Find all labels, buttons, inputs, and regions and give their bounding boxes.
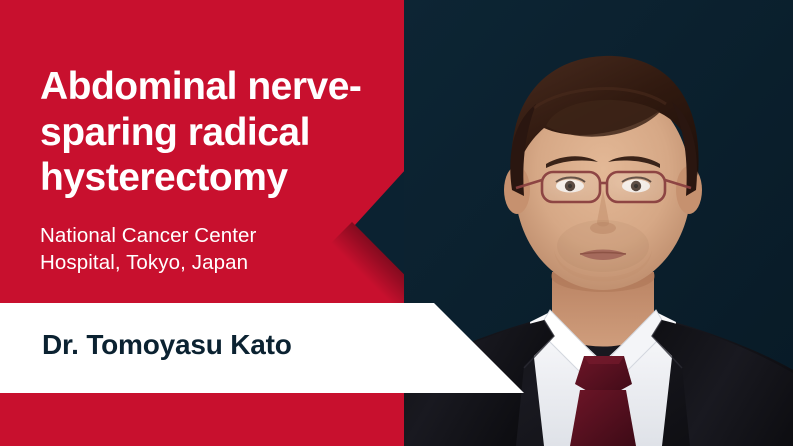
affiliation-text: National Cancer Center Hospital, Tokyo, …	[40, 222, 370, 276]
presentation-title-slide: Abdominal nerve- sparing radical hystere…	[0, 0, 793, 446]
speaker-name: Dr. Tomoyasu Kato	[42, 329, 292, 361]
page-title: Abdominal nerve- sparing radical hystere…	[40, 64, 380, 201]
